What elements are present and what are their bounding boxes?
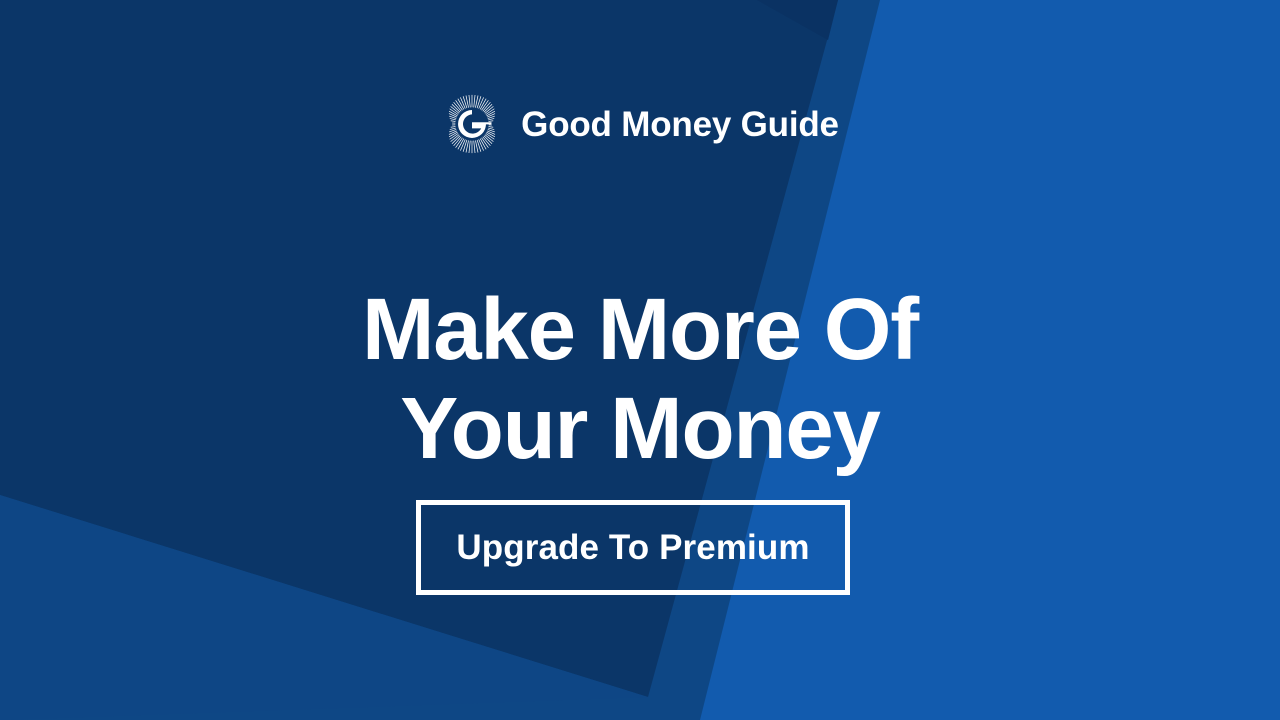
headline: Make More Of Your Money <box>0 280 1280 478</box>
brand-lockup: Good Money Guide <box>0 92 1280 156</box>
cta-button-label: Upgrade To Premium <box>456 528 809 568</box>
slide-content: Good Money Guide Make More Of Your Money… <box>0 0 1280 720</box>
promo-slide: Good Money Guide Make More Of Your Money… <box>0 0 1280 720</box>
headline-line-1: Make More Of <box>0 280 1280 379</box>
upgrade-to-premium-button[interactable]: Upgrade To Premium <box>416 500 850 595</box>
sunburst-g-icon <box>441 93 503 155</box>
headline-line-2: Your Money <box>0 379 1280 478</box>
brand-wordmark: Good Money Guide <box>521 107 839 142</box>
